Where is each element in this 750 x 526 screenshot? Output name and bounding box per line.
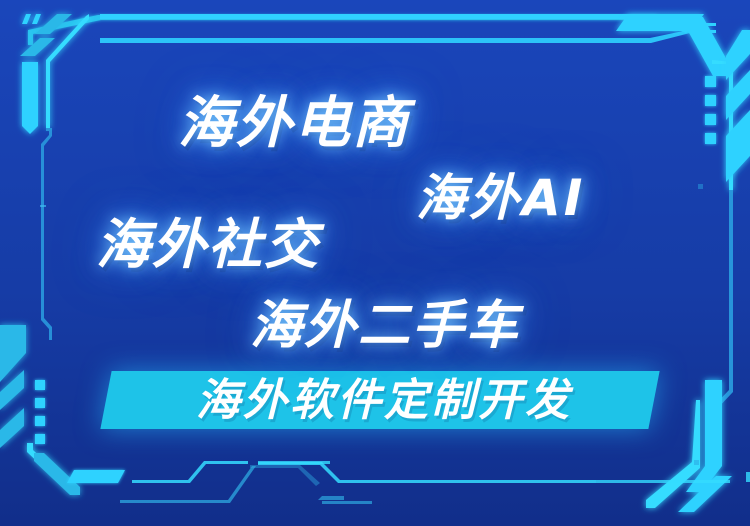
poster-canvas: 海外电商 海外AI 海外社交 海外二手车 海外软件定制开发 [0, 0, 750, 526]
cta-banner-text: 海外软件定制开发 [134, 377, 634, 425]
headline-ecommerce: 海外电商 [178, 78, 410, 159]
headline-ai: 海外AI [416, 158, 585, 230]
headline-used-cars: 海外二手车 [250, 283, 520, 358]
headline-social: 海外社交 [96, 200, 320, 279]
headline-group: 海外电商 海外AI 海外社交 海外二手车 [0, 0, 750, 526]
